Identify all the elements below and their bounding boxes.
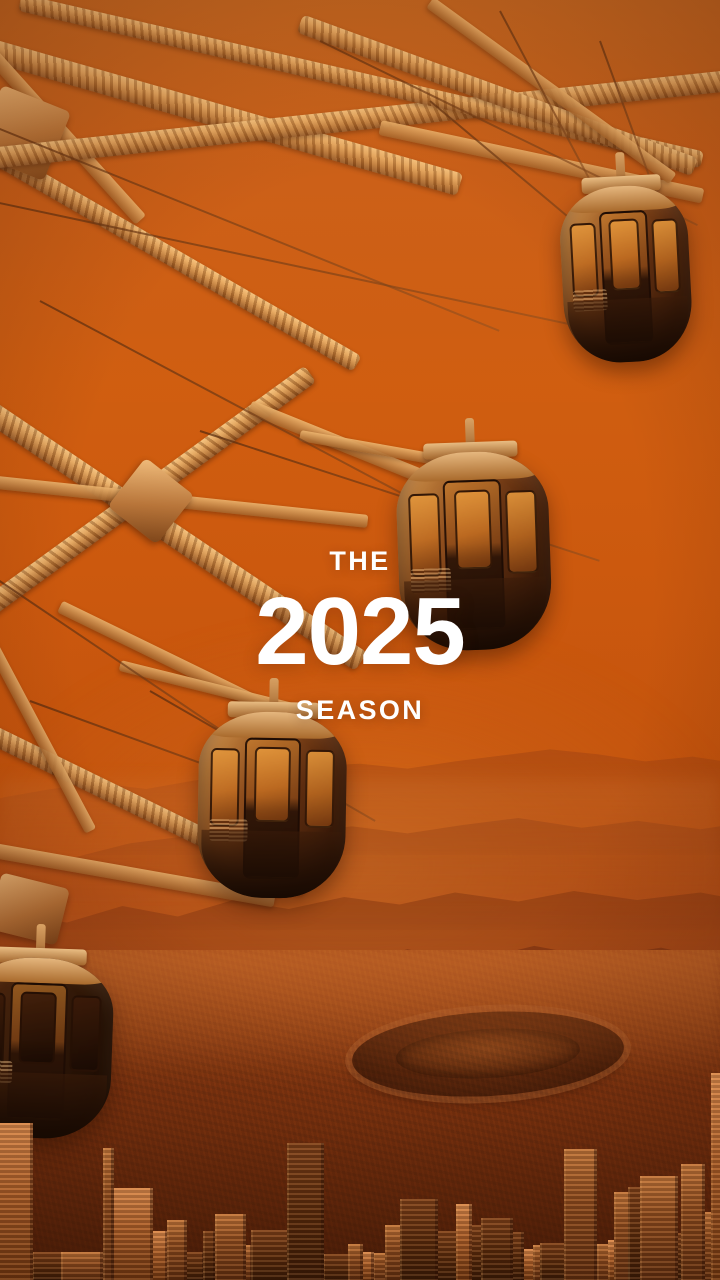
headline-eyebrow: THE <box>0 548 720 575</box>
gondola-window-right <box>651 218 680 293</box>
poster-canvas: THE 2025 SEASON <box>0 0 720 1280</box>
city-building <box>640 1176 679 1280</box>
gondola-upper-right <box>557 183 694 365</box>
gondola-window-center <box>254 747 291 822</box>
headline-year: 2025 <box>0 584 720 680</box>
gondola-window-left <box>0 992 6 1069</box>
gondola-window-left <box>209 748 240 827</box>
gondola-window-center <box>18 992 56 1065</box>
city-building <box>167 1220 187 1280</box>
gondola-window-right <box>304 750 335 829</box>
city-building <box>481 1218 514 1280</box>
gondola-body <box>557 183 694 365</box>
city-building <box>215 1214 246 1280</box>
city-building <box>287 1143 324 1280</box>
headline-block: THE 2025 SEASON <box>0 548 720 724</box>
city-building <box>400 1199 439 1280</box>
gondola-body <box>0 955 115 1140</box>
headline-subject: SEASON <box>0 697 720 724</box>
city-building <box>711 1073 720 1280</box>
city-building <box>0 1123 33 1280</box>
gondola-underside <box>201 830 341 899</box>
gondola-roof <box>0 955 106 985</box>
city-building <box>564 1149 597 1280</box>
gondola-underside <box>567 295 690 365</box>
city-building <box>111 1188 153 1280</box>
gondola-lower-center <box>196 711 347 900</box>
city-building <box>348 1244 363 1280</box>
city-building <box>103 1148 114 1280</box>
gondola-bottom-left <box>0 955 115 1140</box>
gondola-window-right <box>69 995 102 1072</box>
city-building <box>681 1164 704 1280</box>
gondola-window-center <box>608 219 642 291</box>
city-building <box>456 1204 472 1280</box>
wheel-joint <box>0 872 70 945</box>
city-building <box>61 1252 103 1280</box>
gondola-body <box>196 711 347 900</box>
gondola-window-left <box>570 223 599 298</box>
